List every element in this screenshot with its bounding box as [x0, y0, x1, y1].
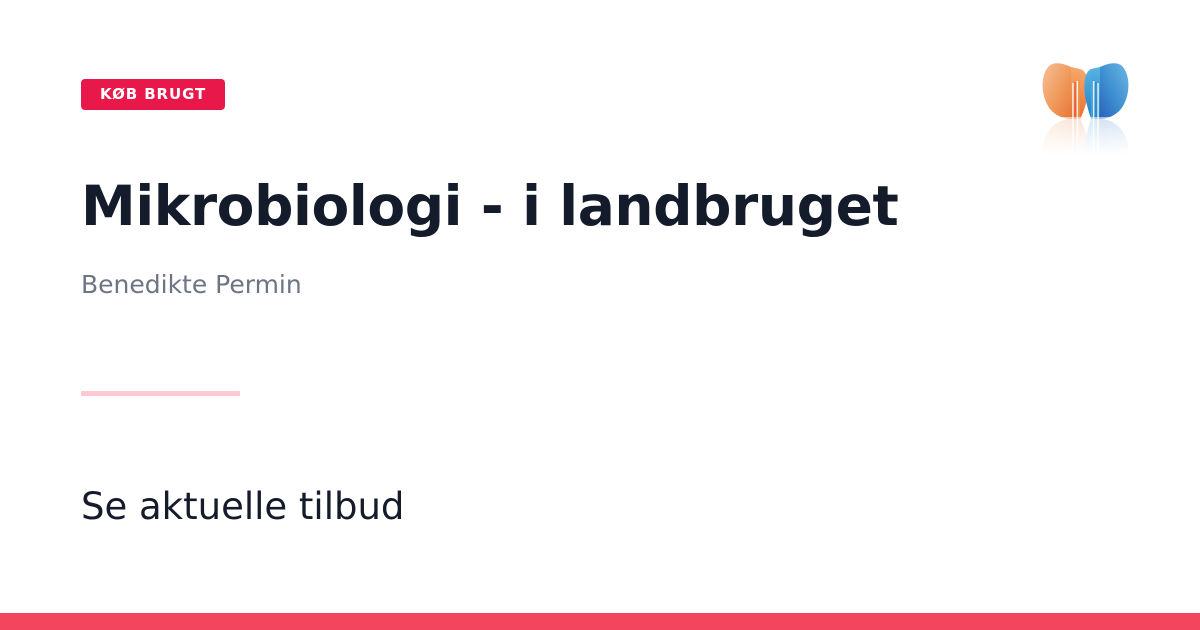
logo-mark — [1043, 63, 1129, 119]
status-badge: KØB BRUGT — [81, 79, 225, 110]
og-card: KØB BRUGT — [0, 0, 1200, 630]
bottom-accent-bar — [0, 613, 1200, 630]
badge-label: KØB BRUGT — [100, 87, 206, 102]
cta-label[interactable]: Se aktuelle tilbud — [81, 485, 404, 529]
logo-reflection — [1038, 117, 1133, 155]
divider — [81, 391, 240, 396]
page-title: Mikrobiologi - i landbruget — [81, 178, 1011, 236]
author-name: Benedikte Permin — [81, 270, 302, 300]
logo — [1038, 55, 1133, 155]
